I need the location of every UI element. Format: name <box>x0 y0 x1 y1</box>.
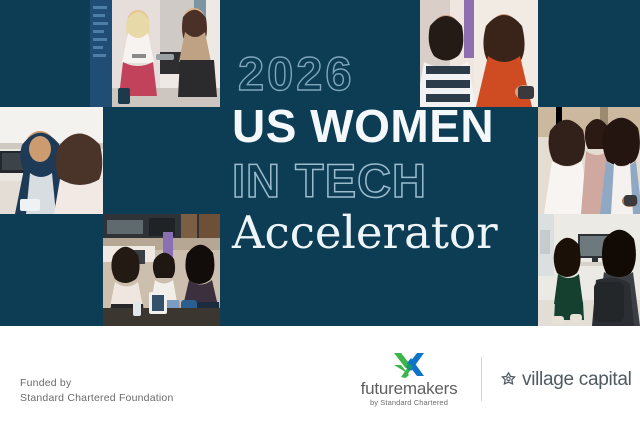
photo-image <box>103 214 220 326</box>
village-capital-wordmark: village capital <box>522 370 632 389</box>
photo-image <box>538 107 640 214</box>
headline-line-3: Accelerator <box>232 210 522 255</box>
poster-canvas: 2026 US WOMEN IN TECH Accelerator Funded… <box>0 0 640 425</box>
futuremakers-chevron-mark <box>392 352 426 378</box>
headline-block: 2026 US WOMEN IN TECH Accelerator <box>232 52 522 255</box>
headline-year: 2026 <box>238 52 522 97</box>
headline-line-1: US WOMEN <box>232 103 522 149</box>
futuremakers-logo: futuremakers by Standard Chartered <box>355 352 463 407</box>
headline-line-2: IN TECH <box>232 157 522 204</box>
funding-statement: Funded by Standard Chartered Foundation <box>20 376 173 406</box>
funding-line-2: Standard Chartered Foundation <box>20 391 173 406</box>
futuremakers-wordmark: futuremakers <box>361 380 458 397</box>
funding-line-1: Funded by <box>20 376 173 391</box>
photo-image <box>538 214 640 326</box>
photo-two-women-talking-office <box>90 0 220 107</box>
partner-logos: futuremakers by Standard Chartered villa… <box>355 352 632 407</box>
photo-image <box>0 107 103 214</box>
photo-group-seated-lounge <box>103 214 220 326</box>
photo-woman-hijab-desk <box>0 107 103 214</box>
photo-image <box>90 0 220 107</box>
navy-background: 2026 US WOMEN IN TECH Accelerator <box>0 0 640 326</box>
village-capital-logo: village capital <box>500 370 632 389</box>
footer-bar: Funded by Standard Chartered Foundation … <box>0 326 640 425</box>
photo-two-women-standing <box>538 107 640 214</box>
futuremakers-tagline: by Standard Chartered <box>370 399 448 407</box>
village-capital-star-mark <box>500 371 517 388</box>
logo-divider <box>481 357 482 401</box>
photo-two-women-at-monitor <box>538 214 640 326</box>
